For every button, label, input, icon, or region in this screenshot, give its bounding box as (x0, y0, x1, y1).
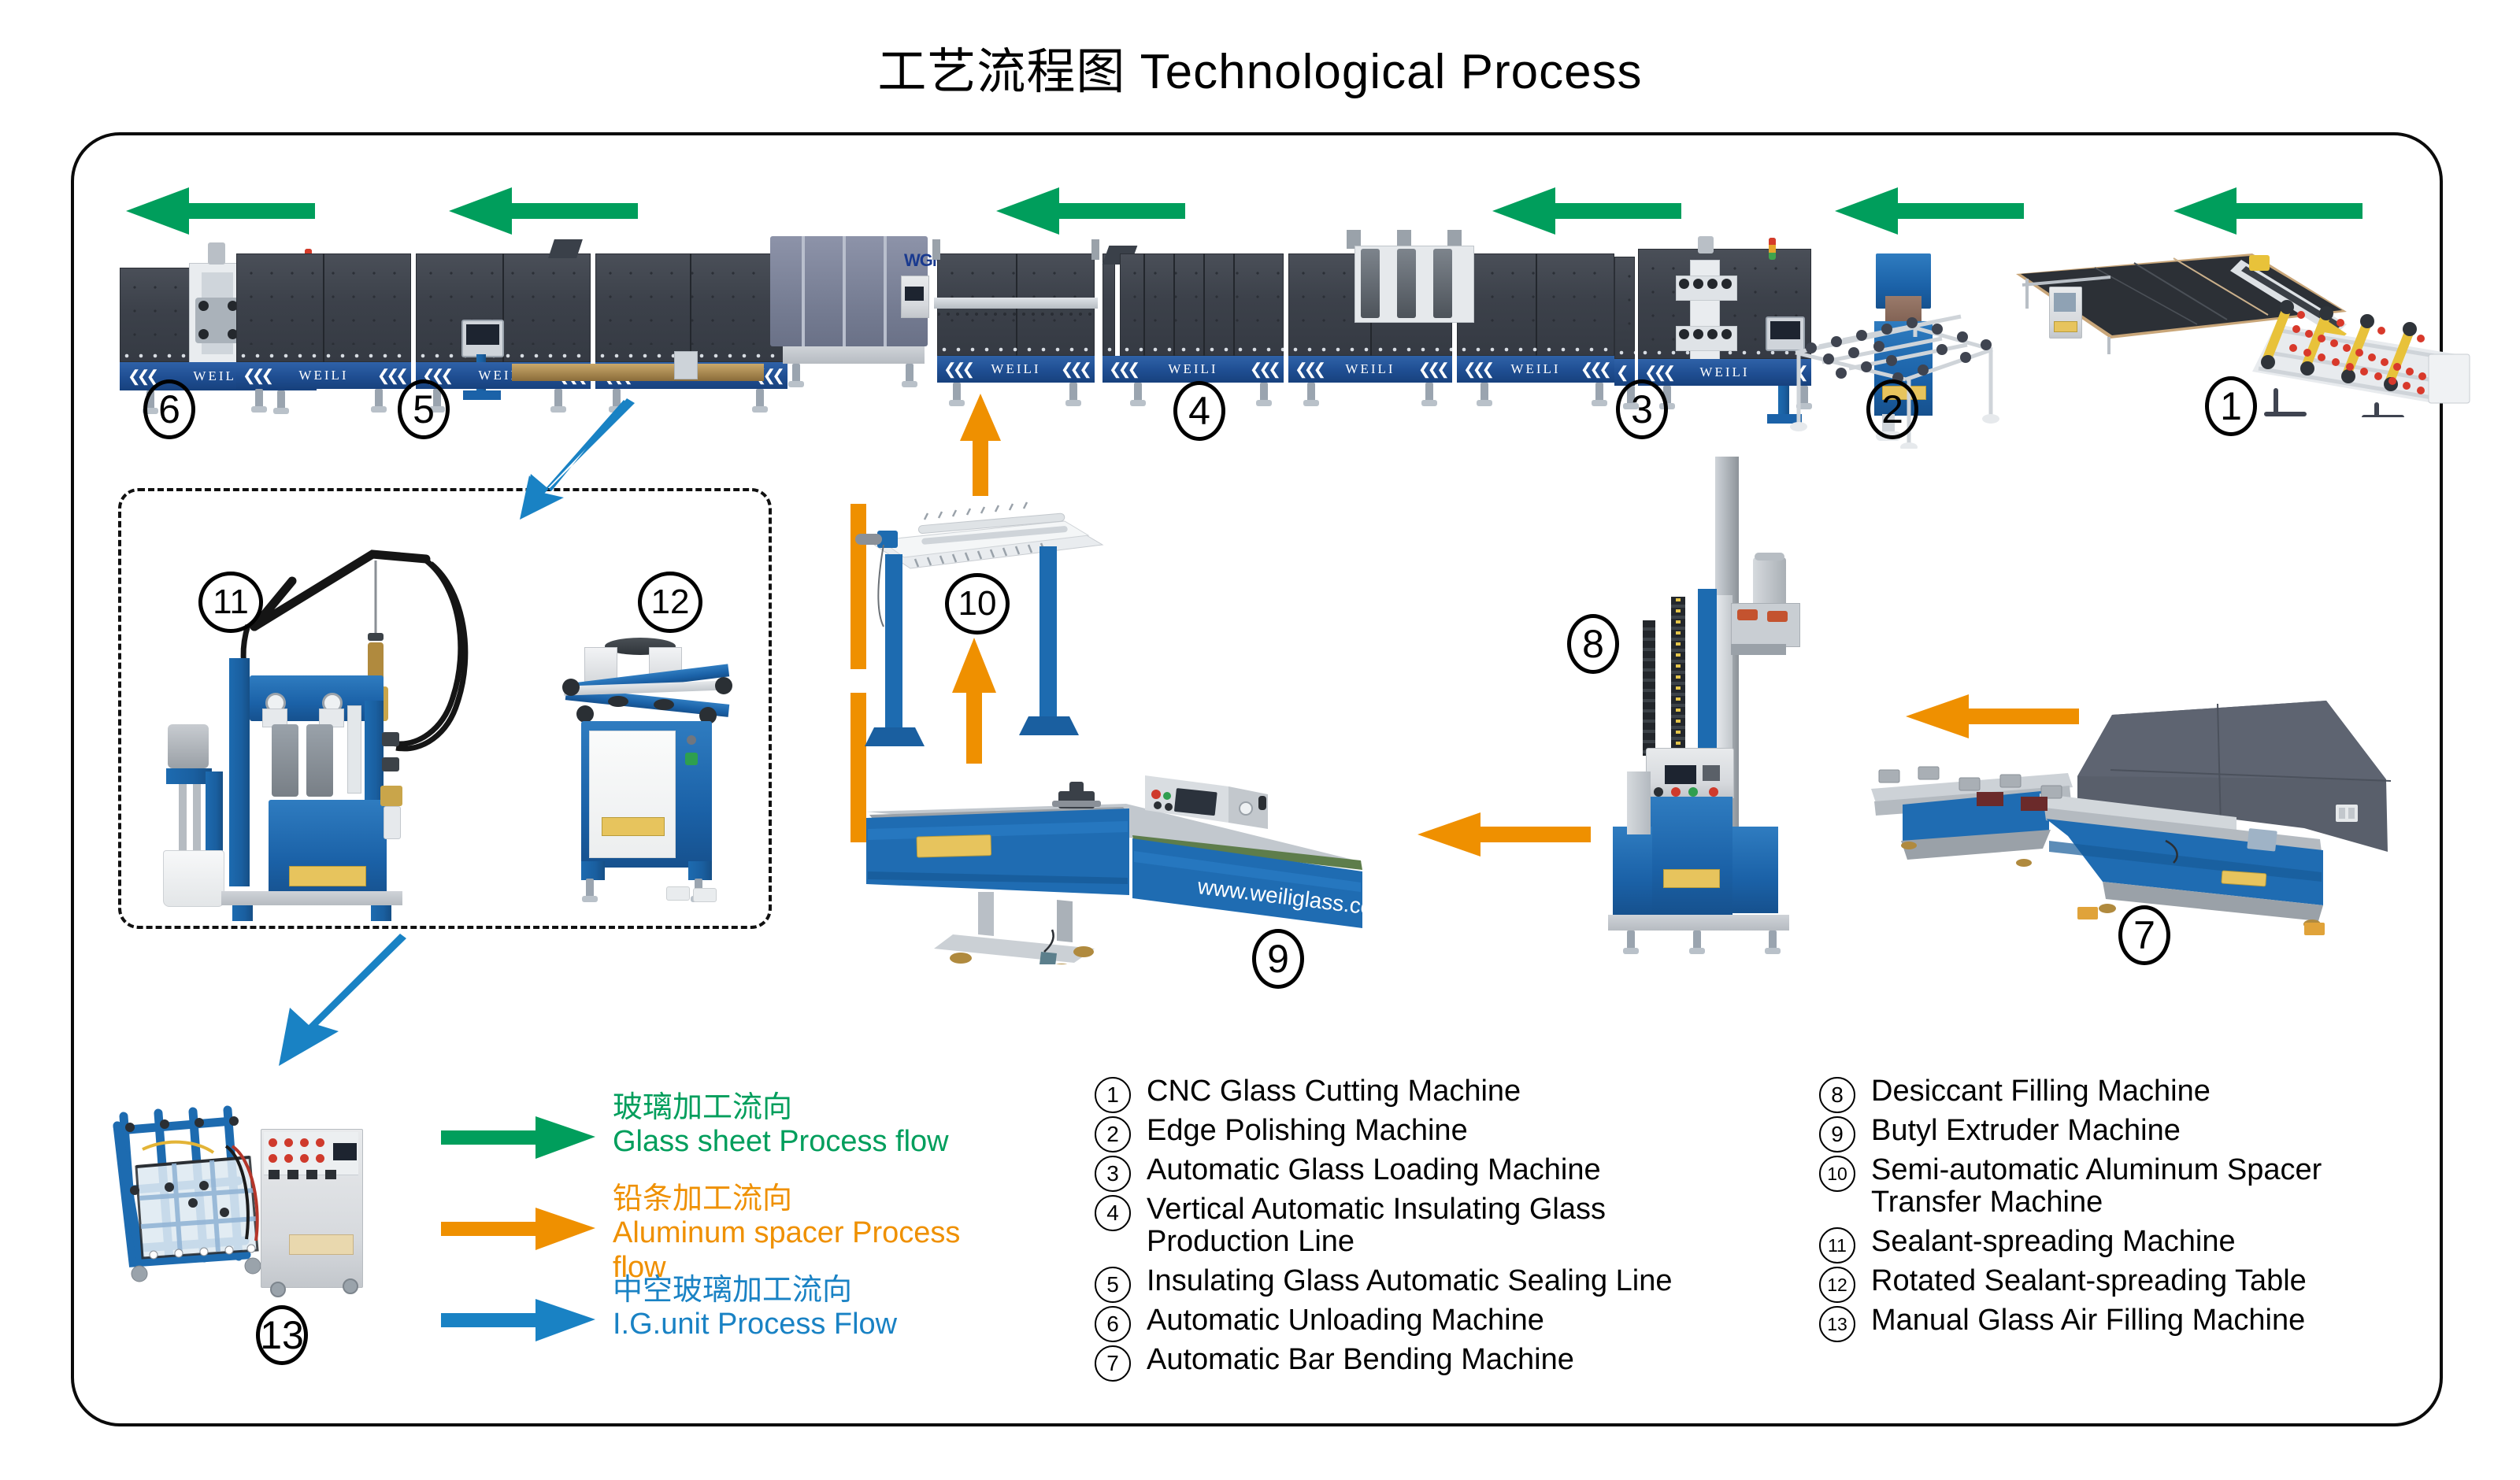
list-item-label: Automatic Glass Loading Machine (1147, 1154, 1772, 1186)
base-brand-label: WEILI (1699, 364, 1749, 380)
chevron-left-icon: ❮❮❮ (1644, 363, 1672, 383)
chevron-left-icon: ❮❮❮ (1061, 360, 1088, 379)
sealant-cylinder (272, 724, 298, 797)
arrow-up-orange (957, 394, 1004, 496)
glass-panel (1120, 253, 1284, 356)
nameplate (1663, 869, 1720, 888)
signal-tower-light (1769, 238, 1776, 260)
list-item-number: 7 (1095, 1345, 1131, 1382)
list-item-number: 6 (1095, 1306, 1131, 1342)
list-item: 2 Edge Polishing Machine (1095, 1115, 1772, 1147)
legend-label-cn: 铅条加工流向 (613, 1181, 976, 1215)
chevron-left-icon: ❮❮❮ (1581, 360, 1608, 379)
foot-pedal[interactable] (666, 886, 690, 901)
list-item: 4 Vertical Automatic Insulating Glass Pr… (1095, 1193, 1772, 1258)
list-item-number: 11 (1819, 1227, 1855, 1264)
arrow-right-green (1492, 186, 1681, 236)
list-item-label: Edge Polishing Machine (1147, 1115, 1772, 1147)
air-motor (168, 724, 209, 768)
list-item-label: Rotated Sealant-spreading Table (1871, 1265, 2449, 1297)
sealant-carriage (674, 351, 698, 379)
machine-8-desiccant-filling (1599, 457, 1835, 960)
machine-9-butyl-extruder: www.weiliglass.com (858, 760, 1370, 964)
page-title-en: Technological Process (1140, 45, 1643, 99)
list-item: 1 CNC Glass Cutting Machine (1095, 1075, 1772, 1108)
list-item-label: Semi-automatic Aluminum Spacer (1871, 1154, 2449, 1186)
callout-6: 6 (143, 379, 195, 439)
machine-12-rotated-table (561, 638, 758, 905)
list-item-label: Sealant-spreading Machine (1871, 1226, 2449, 1258)
start-button[interactable] (685, 753, 698, 765)
chevron-left-icon: ❮❮❮ (1295, 360, 1322, 379)
hmi-touchscreen[interactable] (461, 320, 504, 357)
sealant-cylinder (306, 724, 333, 797)
machine-5-sealing-line: ❮❮❮ WEILI ❮❮❮ ❮❮❮ WEILI ❮❮❮ ❮❮❮ WEILI ❮❮… (236, 260, 787, 394)
machine-13-air-filling (106, 1094, 366, 1330)
list-item: 12 Rotated Sealant-spreading Table (1819, 1265, 2449, 1297)
chevron-left-icon: ❮❮❮ (943, 360, 971, 379)
nameplate (289, 866, 366, 886)
selector-knob[interactable] (687, 735, 696, 745)
list-item-label: CNC Glass Cutting Machine (1147, 1075, 1772, 1108)
list-item: 6 Automatic Unloading Machine (1095, 1304, 1772, 1337)
arrow-left-orange (1417, 809, 1591, 860)
machine-4-roller-press (1339, 236, 1536, 394)
callout-10: 10 (945, 573, 1010, 635)
sealant-rail (512, 364, 764, 381)
arrow-right-green (441, 1115, 595, 1163)
base-brand-label: WEILI (298, 368, 348, 383)
legend-label-cn: 玻璃加工流向 (613, 1090, 949, 1124)
list-item: 10 Semi-automatic Aluminum Spacer Transf… (1819, 1154, 2449, 1219)
cabinet-door[interactable] (589, 731, 676, 858)
list-item-number: 4 (1095, 1195, 1131, 1231)
page-title: 工艺流程图 Technological Process (0, 31, 2520, 102)
callout-7: 7 (2118, 905, 2170, 965)
legend-row-spacer: 铅条加工流向 Aluminum spacer Process flow (441, 1186, 976, 1277)
arrow-right-green (126, 186, 315, 236)
list-item-label: Automatic Bar Bending Machine (1147, 1344, 1772, 1376)
list-item-label: Manual Glass Air Filling Machine (1871, 1304, 2449, 1337)
spacer-transfer-bar (934, 298, 1098, 309)
list-item: 7 Automatic Bar Bending Machine (1095, 1344, 1772, 1376)
list-item-number: 5 (1095, 1267, 1131, 1303)
callout-12: 12 (638, 572, 702, 633)
foot-pedal[interactable] (693, 888, 717, 902)
machine-base: ❮❮❮ WEILI ❮ (1638, 359, 1811, 386)
list-item: 13 Manual Glass Air Filling Machine (1819, 1304, 2449, 1337)
list-item-number: 9 (1819, 1116, 1855, 1153)
press-bed (783, 346, 925, 364)
list-item-number: 10 (1819, 1156, 1855, 1192)
callout-2: 2 (1866, 379, 1918, 439)
extruder-body (858, 760, 1370, 964)
arrow-diagonal-blue (488, 400, 638, 526)
machine-list-left: 1 CNC Glass Cutting Machine 2 Edge Polis… (1095, 1075, 1772, 1383)
list-item: 11 Sealant-spreading Machine (1819, 1226, 2449, 1258)
page-title-cn: 工艺流程图 (877, 43, 1125, 100)
chevron-left-icon: ❮ (1616, 363, 1625, 383)
list-item-label: Desiccant Filling Machine (1871, 1075, 2449, 1108)
arrow-right-orange (441, 1206, 595, 1254)
list-item-number: 1 (1095, 1077, 1131, 1113)
legend-label-cn: 中空玻璃加工流向 (613, 1272, 897, 1307)
nameplate (602, 817, 665, 836)
list-item-number: 2 (1095, 1116, 1131, 1153)
chevron-left-icon: ❮❮❮ (128, 367, 155, 387)
sealant-column (229, 658, 250, 886)
chevron-left-icon: ❮❮❮ (243, 366, 270, 386)
legend-label-en: Glass sheet Process flow (613, 1124, 949, 1159)
chevron-left-icon: ❮❮❮ (1109, 360, 1136, 379)
legend-row-ig: 中空玻璃加工流向 I.G.unit Process Flow (441, 1277, 976, 1368)
chevron-left-icon: ❮❮❮ (377, 366, 405, 386)
base-brand-label: WEILI (1168, 361, 1217, 377)
arrow-diagonal-blue (252, 937, 409, 1071)
machine-base: ❮❮❮ WEILI ❮❮❮ (236, 362, 411, 389)
callout-3: 3 (1616, 379, 1668, 439)
list-item-label: Insulating Glass Automatic Sealing Line (1147, 1265, 1772, 1297)
list-item-number: 8 (1819, 1077, 1855, 1113)
machine-4-press-wgm: WGM (770, 236, 936, 386)
machine-base: ❮❮❮ WEILI ❮❮❮ (1102, 356, 1284, 383)
callout-8: 8 (1567, 614, 1619, 674)
base-brand-label: WEILI (991, 361, 1040, 377)
nameplate (2054, 321, 2077, 332)
arrow-right-green (2173, 186, 2362, 236)
list-item: 3 Automatic Glass Loading Machine (1095, 1154, 1772, 1186)
arrow-right-green (996, 186, 1185, 236)
callout-13: 13 (256, 1305, 308, 1365)
glass-panel (595, 253, 787, 362)
callout-11: 11 (198, 572, 263, 633)
list-item-label: Vertical Automatic Insulating Glass (1147, 1193, 1772, 1226)
list-item-label-cont: Transfer Machine (1871, 1186, 2103, 1219)
sealant-pail (163, 850, 224, 907)
list-item-label: Butyl Extruder Machine (1871, 1115, 2449, 1147)
arrow-right-blue (441, 1297, 595, 1345)
arrow-right-green (1835, 186, 2024, 236)
glass-panel (236, 253, 411, 362)
chevron-left-icon: ❮❮❮ (1250, 360, 1277, 379)
list-item-number: 12 (1819, 1267, 1855, 1303)
list-item-number: 13 (1819, 1306, 1855, 1342)
nameplate (289, 1234, 354, 1255)
arrow-right-green (449, 186, 638, 236)
list-item: 8 Desiccant Filling Machine (1819, 1075, 2449, 1108)
callout-4: 4 (1173, 381, 1225, 441)
list-item-label: Automatic Unloading Machine (1147, 1304, 1772, 1337)
side-cabinet (1613, 827, 1652, 915)
desiccant-hopper (1753, 557, 1786, 606)
cabinet-door[interactable] (1646, 797, 1732, 915)
legend-label-en: I.G.unit Process Flow (613, 1307, 897, 1341)
legend-row-glass: 玻璃加工流向 Glass sheet Process flow (441, 1094, 976, 1186)
callout-5: 5 (398, 379, 450, 439)
side-cabinet (1732, 827, 1778, 913)
list-item: 5 Insulating Glass Automatic Sealing Lin… (1095, 1265, 1772, 1297)
digital-display (333, 1143, 357, 1160)
machine-list-right: 8 Desiccant Filling Machine 9 Butyl Extr… (1819, 1075, 2449, 1344)
cable-chain (1643, 620, 1655, 756)
callout-9: 9 (1252, 929, 1304, 989)
callout-1: 1 (2205, 376, 2257, 436)
machine-base: ❮❮❮ WEILI ❮❮❮ (937, 356, 1095, 383)
legend: 玻璃加工流向 Glass sheet Process flow 铅条加工流向 A… (441, 1094, 976, 1368)
top-motor (208, 242, 225, 265)
list-item-label-cont: Production Line (1147, 1225, 1354, 1258)
list-item-number: 3 (1095, 1156, 1131, 1192)
list-item: 9 Butyl Extruder Machine (1819, 1115, 2449, 1147)
